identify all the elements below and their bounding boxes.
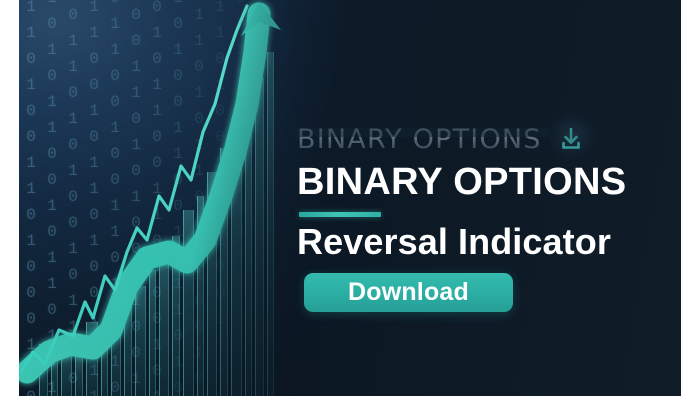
accent-rule <box>299 212 381 217</box>
content-column: BINARY OPTIONS BINARY OPTIONS Reversal I… <box>297 0 681 396</box>
download-icon <box>554 122 588 156</box>
ghost-logo-text: BINARY OPTIONS <box>297 124 542 155</box>
page-subtitle: Reversal Indicator <box>297 224 611 260</box>
promo-banner: 1 1 0 1 0 0 1 1 0 1 0 0 0 1 1 01 0 1 0 1… <box>19 0 681 396</box>
page-title: BINARY OPTIONS <box>297 163 626 201</box>
download-button[interactable]: Download <box>304 273 513 312</box>
poster-frame: 1 1 0 1 0 0 1 1 0 1 0 0 0 1 1 01 0 1 0 1… <box>0 0 700 400</box>
ghost-logo: BINARY OPTIONS <box>297 122 588 156</box>
